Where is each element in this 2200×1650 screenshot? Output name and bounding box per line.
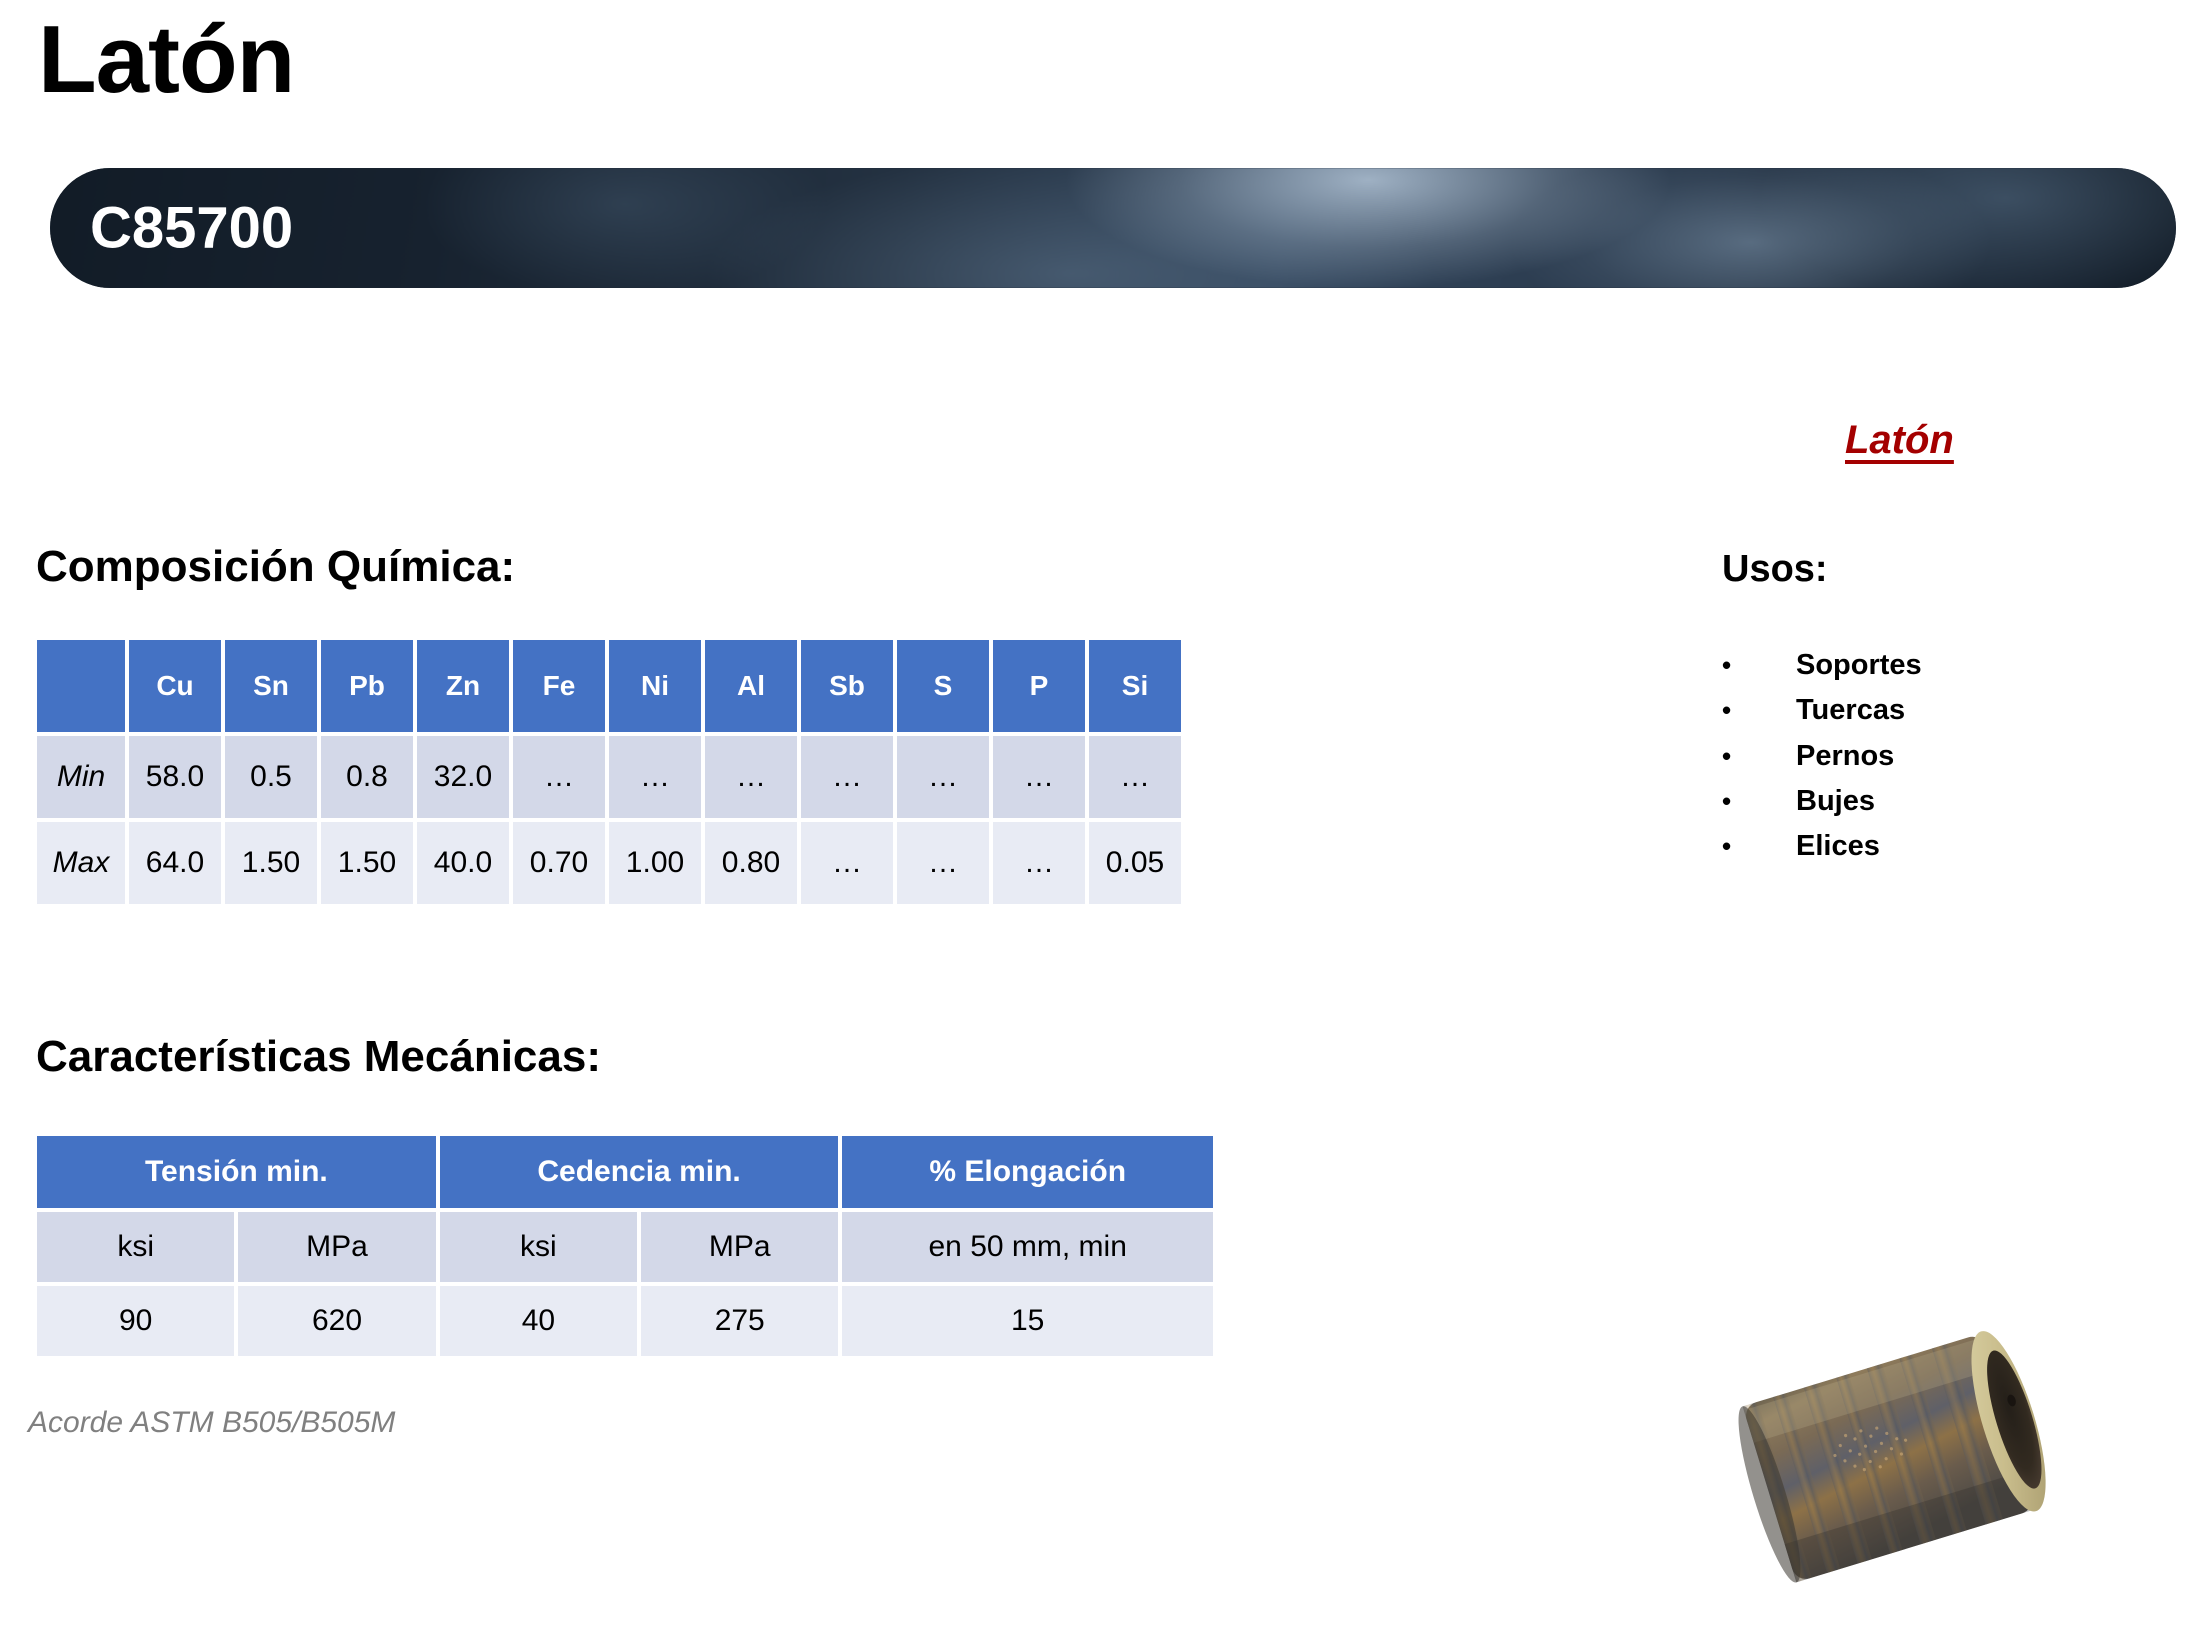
table-header-row: Cu Sn Pb Zn Fe Ni Al Sb S P Si [37, 640, 1181, 732]
cell-max-fe: 0.70 [513, 822, 605, 904]
table-value-row: 90 620 40 275 15 [37, 1286, 1213, 1356]
product-photo-brass-bushing [1700, 1255, 2200, 1650]
col-header-pb: Pb [321, 640, 413, 732]
cell-max-ni: 1.00 [609, 822, 701, 904]
list-item: • Tuercas [1722, 695, 2142, 726]
group-header-cedencia: Cedencia min. [440, 1136, 839, 1208]
table-subheader-row: ksi MPa ksi MPa en 50 mm, min [37, 1212, 1213, 1282]
list-item: • Bujes [1722, 786, 2142, 817]
bullet-icon: • [1722, 742, 1796, 770]
cell-min-sn: 0.5 [225, 736, 317, 818]
col-header-zn: Zn [417, 640, 509, 732]
bullet-icon: • [1722, 787, 1796, 815]
subheader-cedencia-ksi: ksi [440, 1212, 637, 1282]
cell-max-sn: 1.50 [225, 822, 317, 904]
col-header-blank [37, 640, 125, 732]
composicion-quimica-heading: Composición Química: [36, 542, 515, 592]
col-header-sn: Sn [225, 640, 317, 732]
cell-min-p: … [993, 736, 1085, 818]
page-title: Latón [38, 10, 294, 111]
cell-min-ni: … [609, 736, 701, 818]
row-label-max: Max [37, 822, 125, 904]
cell-max-s: … [897, 822, 989, 904]
usos-item-label: Tuercas [1796, 695, 1905, 726]
cell-min-si: … [1089, 736, 1181, 818]
cell-max-al: 0.80 [705, 822, 797, 904]
value-tension-ksi: 90 [37, 1286, 234, 1356]
cell-min-pb: 0.8 [321, 736, 413, 818]
banner-texture [50, 168, 2176, 288]
bullet-icon: • [1722, 696, 1796, 724]
col-header-p: P [993, 640, 1085, 732]
value-cedencia-ksi: 40 [440, 1286, 637, 1356]
usos-item-label: Soportes [1796, 650, 1922, 681]
value-cedencia-mpa: 275 [641, 1286, 838, 1356]
col-header-s: S [897, 640, 989, 732]
cell-min-fe: … [513, 736, 605, 818]
usos-item-label: Elices [1796, 831, 1880, 862]
table-row-max: Max 64.0 1.50 1.50 40.0 0.70 1.00 0.80 …… [37, 822, 1181, 904]
cell-max-zn: 40.0 [417, 822, 509, 904]
alloy-code-banner: C85700 [50, 168, 2176, 288]
cell-max-p: … [993, 822, 1085, 904]
cell-min-sb: … [801, 736, 893, 818]
value-tension-mpa: 620 [238, 1286, 435, 1356]
cell-min-zn: 32.0 [417, 736, 509, 818]
laton-link[interactable]: Latón [1845, 418, 1954, 463]
list-item: • Pernos [1722, 741, 2142, 772]
alloy-code-label: C85700 [90, 195, 293, 262]
subheader-tension-mpa: MPa [238, 1212, 435, 1282]
standard-reference-caption: Acorde ASTM B505/B505M [28, 1406, 395, 1440]
table-row-min: Min 58.0 0.5 0.8 32.0 … … … … … … … [37, 736, 1181, 818]
cell-min-cu: 58.0 [129, 736, 221, 818]
subheader-cedencia-mpa: MPa [641, 1212, 838, 1282]
composicion-quimica-table: Cu Sn Pb Zn Fe Ni Al Sb S P Si Min 58.0 … [33, 636, 1185, 908]
bullet-icon: • [1722, 651, 1796, 679]
col-header-cu: Cu [129, 640, 221, 732]
usos-heading: Usos: [1722, 548, 1828, 591]
group-header-tension: Tensión min. [37, 1136, 436, 1208]
value-elongacion: 15 [842, 1286, 1213, 1356]
col-header-sb: Sb [801, 640, 893, 732]
list-item: • Elices [1722, 831, 2142, 862]
tube-body [1727, 1324, 2061, 1589]
col-header-fe: Fe [513, 640, 605, 732]
brass-bushing-illustration [1700, 1255, 2200, 1650]
usos-list: • Soportes • Tuercas • Pernos • Bujes • … [1722, 650, 2142, 877]
group-header-elongacion: % Elongación [842, 1136, 1213, 1208]
caracteristicas-mecanicas-table: Tensión min. Cedencia min. % Elongación … [33, 1132, 1217, 1360]
subheader-tension-ksi: ksi [37, 1212, 234, 1282]
cell-max-pb: 1.50 [321, 822, 413, 904]
usos-item-label: Pernos [1796, 741, 1894, 772]
list-item: • Soportes [1722, 650, 2142, 681]
cell-max-sb: … [801, 822, 893, 904]
caracteristicas-mecanicas-heading: Características Mecánicas: [36, 1032, 601, 1082]
table-group-header-row: Tensión min. Cedencia min. % Elongación [37, 1136, 1213, 1208]
row-label-min: Min [37, 736, 125, 818]
cell-min-s: … [897, 736, 989, 818]
bullet-icon: • [1722, 832, 1796, 860]
cell-max-si: 0.05 [1089, 822, 1181, 904]
usos-item-label: Bujes [1796, 786, 1875, 817]
col-header-ni: Ni [609, 640, 701, 732]
col-header-al: Al [705, 640, 797, 732]
subheader-elongacion-cond: en 50 mm, min [842, 1212, 1213, 1282]
col-header-si: Si [1089, 640, 1181, 732]
cell-min-al: … [705, 736, 797, 818]
cell-max-cu: 64.0 [129, 822, 221, 904]
